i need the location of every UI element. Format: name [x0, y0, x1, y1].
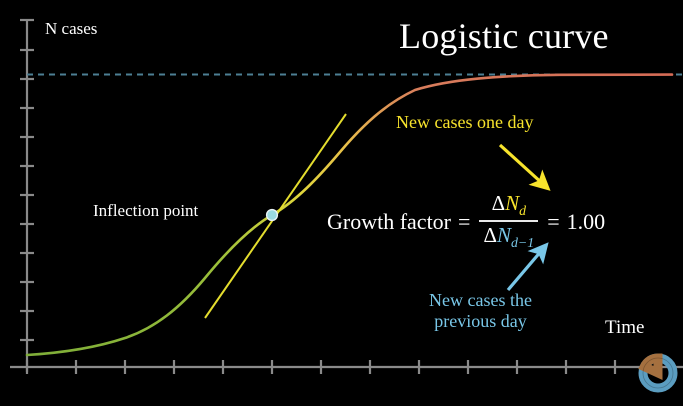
formula-fraction: ΔNd ΔNd−1 [479, 191, 538, 251]
formula-equals-second: = [547, 209, 559, 235]
x-axis [10, 360, 683, 374]
numerator-subscript: d [519, 203, 526, 218]
blue-annotation-arrow [508, 250, 542, 290]
fraction-bar [479, 220, 538, 222]
formula-numerator: ΔNd [488, 191, 530, 219]
annotation-new-cases-previous-day: New cases the previous day [429, 290, 532, 332]
growth-factor-formula: Growth factor = ΔNd ΔNd−1 = 1.00 [327, 192, 605, 252]
denominator-n-symbol: N [497, 223, 511, 247]
denominator-subscript: d−1 [511, 235, 534, 250]
growth-factor-value: 1.00 [567, 209, 606, 235]
annotation-prev-day-line-1: New cases the [429, 290, 532, 311]
page-title: Logistic curve [399, 18, 609, 56]
pi-creature-ring-logo [637, 352, 679, 394]
annotation-prev-day-line-2: previous day [429, 311, 532, 332]
y-axis [20, 20, 34, 372]
x-axis-label: Time [605, 318, 644, 338]
formula-equals-first: = [458, 209, 470, 235]
annotation-new-cases-one-day: New cases one day [396, 113, 533, 132]
logo-wedge [644, 358, 658, 373]
inflection-point-label: Inflection point [93, 202, 198, 220]
yellow-annotation-arrow [500, 145, 543, 184]
formula-growth-factor-text: Growth factor [327, 209, 451, 235]
y-axis-label: N cases [45, 20, 97, 38]
numerator-n-symbol: N [505, 191, 519, 215]
numerator-delta-symbol: Δ [492, 191, 506, 215]
inflection-point-dot [267, 210, 278, 221]
denominator-delta-symbol: Δ [483, 223, 497, 247]
logistic-curve-figure: Logistic curve N cases Time Inflection p… [0, 0, 683, 406]
formula-denominator: ΔNd−1 [479, 223, 538, 251]
